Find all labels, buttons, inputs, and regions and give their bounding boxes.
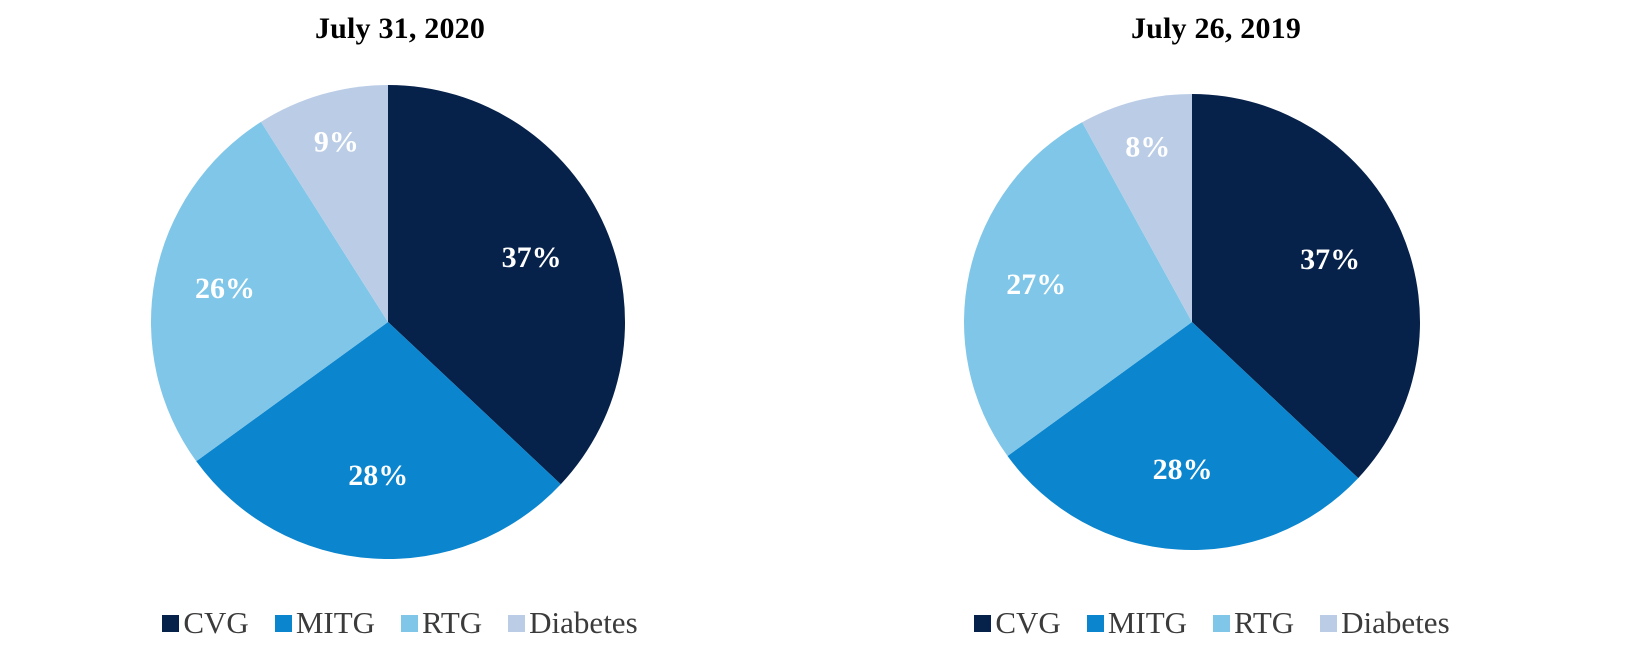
pie-slice-label-rtg: 26%	[195, 272, 255, 305]
legend-item-cvg[interactable]: CVG	[162, 606, 248, 640]
chart-panel-july-26-2019: July 26, 2019 37%28%27%8% CVGMITGRTGDiab…	[812, 0, 1612, 648]
legend-item-mitg[interactable]: MITG	[275, 606, 375, 640]
pie-slice-label-diabetes: 8%	[1125, 131, 1170, 164]
pie-chart-left: 37%28%26%9%	[0, 82, 800, 564]
pie-area-left: 37%28%26%9%	[0, 82, 800, 564]
square-swatch	[401, 615, 418, 632]
chart-title-right: July 26, 2019	[812, 12, 1616, 46]
legend-item-cvg[interactable]: CVG	[974, 606, 1060, 640]
pie-chart-right: 37%28%27%8%	[812, 82, 1612, 564]
legend-item-label: Diabetes	[529, 606, 637, 640]
pie-slice-label-rtg: 27%	[1006, 268, 1066, 301]
legend-item-label: MITG	[296, 606, 375, 640]
square-swatch	[508, 615, 525, 632]
legend-item-rtg[interactable]: RTG	[401, 606, 482, 640]
legend-item-label: RTG	[1234, 606, 1294, 640]
pie-slice-label-mitg: 28%	[1153, 453, 1213, 486]
square-swatch	[974, 615, 991, 632]
legend-item-label: CVG	[183, 606, 248, 640]
legend-item-label: RTG	[422, 606, 482, 640]
legend-item-rtg[interactable]: RTG	[1213, 606, 1294, 640]
legend-item-label: CVG	[995, 606, 1060, 640]
square-swatch	[162, 615, 179, 632]
square-swatch	[1087, 615, 1104, 632]
pie-slice-label-cvg: 37%	[502, 241, 562, 274]
legend-left: CVGMITGRTGDiabetes	[0, 606, 800, 640]
legend-item-label: MITG	[1108, 606, 1187, 640]
square-swatch	[1213, 615, 1230, 632]
legend-item-label: Diabetes	[1341, 606, 1449, 640]
legend-right: CVGMITGRTGDiabetes	[812, 606, 1612, 640]
legend-item-diabetes[interactable]: Diabetes	[508, 606, 637, 640]
legend-item-diabetes[interactable]: Diabetes	[1320, 606, 1449, 640]
chart-title-left: July 31, 2020	[0, 12, 800, 46]
pie-slice-label-cvg: 37%	[1300, 243, 1360, 276]
square-swatch	[275, 615, 292, 632]
pie-area-right: 37%28%27%8%	[812, 82, 1612, 564]
pie-chart-figure: July 31, 2020 37%28%26%9% CVGMITGRTGDiab…	[0, 0, 1649, 648]
pie-slice-label-mitg: 28%	[348, 459, 408, 492]
legend-item-mitg[interactable]: MITG	[1087, 606, 1187, 640]
square-swatch	[1320, 615, 1337, 632]
pie-slice-label-diabetes: 9%	[314, 125, 359, 158]
chart-panel-july-31-2020: July 31, 2020 37%28%26%9% CVGMITGRTGDiab…	[0, 0, 800, 648]
